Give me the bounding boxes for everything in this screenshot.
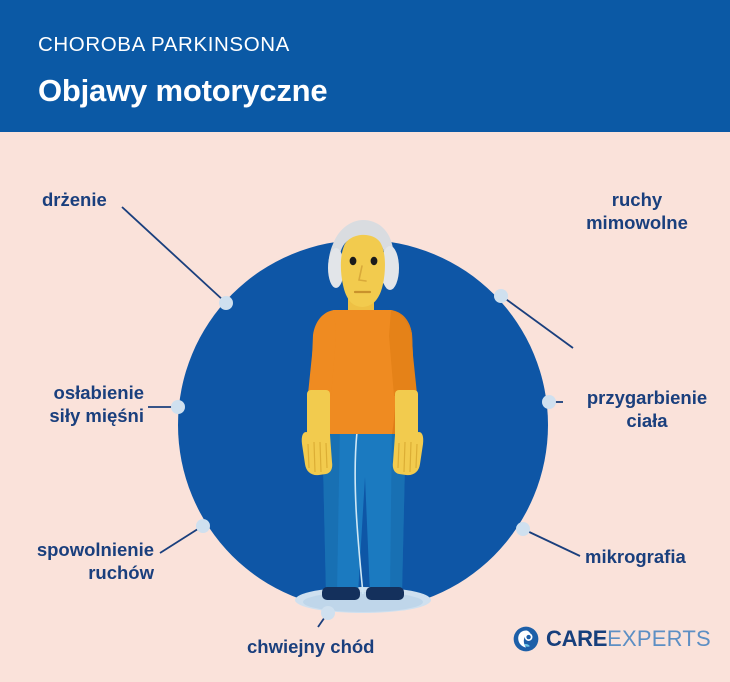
logo-experts-text: EXPERTS (607, 626, 711, 651)
leader-line-mikrografia (525, 530, 580, 556)
shoe-left (322, 587, 360, 600)
header-kicker: CHOROBA PARKINSONA (38, 33, 290, 57)
callout-label-oslabienie: osłabienie siły mięśni (12, 381, 144, 427)
leader-line-drzenie (122, 207, 224, 301)
leader-dot-mikrografia (516, 522, 530, 536)
eye-left (350, 257, 357, 265)
callout-label-chwiejny-chod: chwiejny chód (247, 635, 374, 658)
leader-line-spowolnienie (160, 527, 201, 553)
careexperts-circle-icon (513, 626, 539, 652)
callout-label-przygarbienie: przygarbienie ciała (570, 386, 724, 432)
leader-dot-spowolnienie (196, 519, 210, 533)
logo-care-text: CARE (546, 626, 607, 651)
head (341, 235, 385, 307)
leader-dot-oslabienie (171, 400, 185, 414)
careexperts-logo: CAREEXPERTS (513, 626, 711, 652)
page-title: Objawy motoryczne (38, 73, 327, 109)
callout-label-spowolnienie: spowolnienie ruchów (6, 538, 154, 584)
eye-right (371, 257, 378, 265)
leader-dot-ruchy (494, 289, 508, 303)
leader-dot-przygarbienie (542, 395, 556, 409)
callout-label-mikrografia: mikrografia (585, 545, 686, 568)
forearm-left (307, 390, 330, 440)
forearm-right (395, 390, 418, 440)
logo-wordmark: CAREEXPERTS (546, 626, 711, 652)
infographic-root: CHOROBA PARKINSONA Objawy motoryczne (0, 0, 730, 682)
shoe-right (366, 587, 404, 600)
leader-dot-chwiejny (321, 606, 335, 620)
callout-label-ruchy: ruchy mimowolne (574, 188, 700, 234)
ground-shadow-inner (303, 592, 423, 612)
callout-label-drzenie: drżenie (42, 188, 107, 211)
header-banner: CHOROBA PARKINSONA Objawy motoryczne (0, 0, 730, 132)
leader-dot-drzenie (219, 296, 233, 310)
